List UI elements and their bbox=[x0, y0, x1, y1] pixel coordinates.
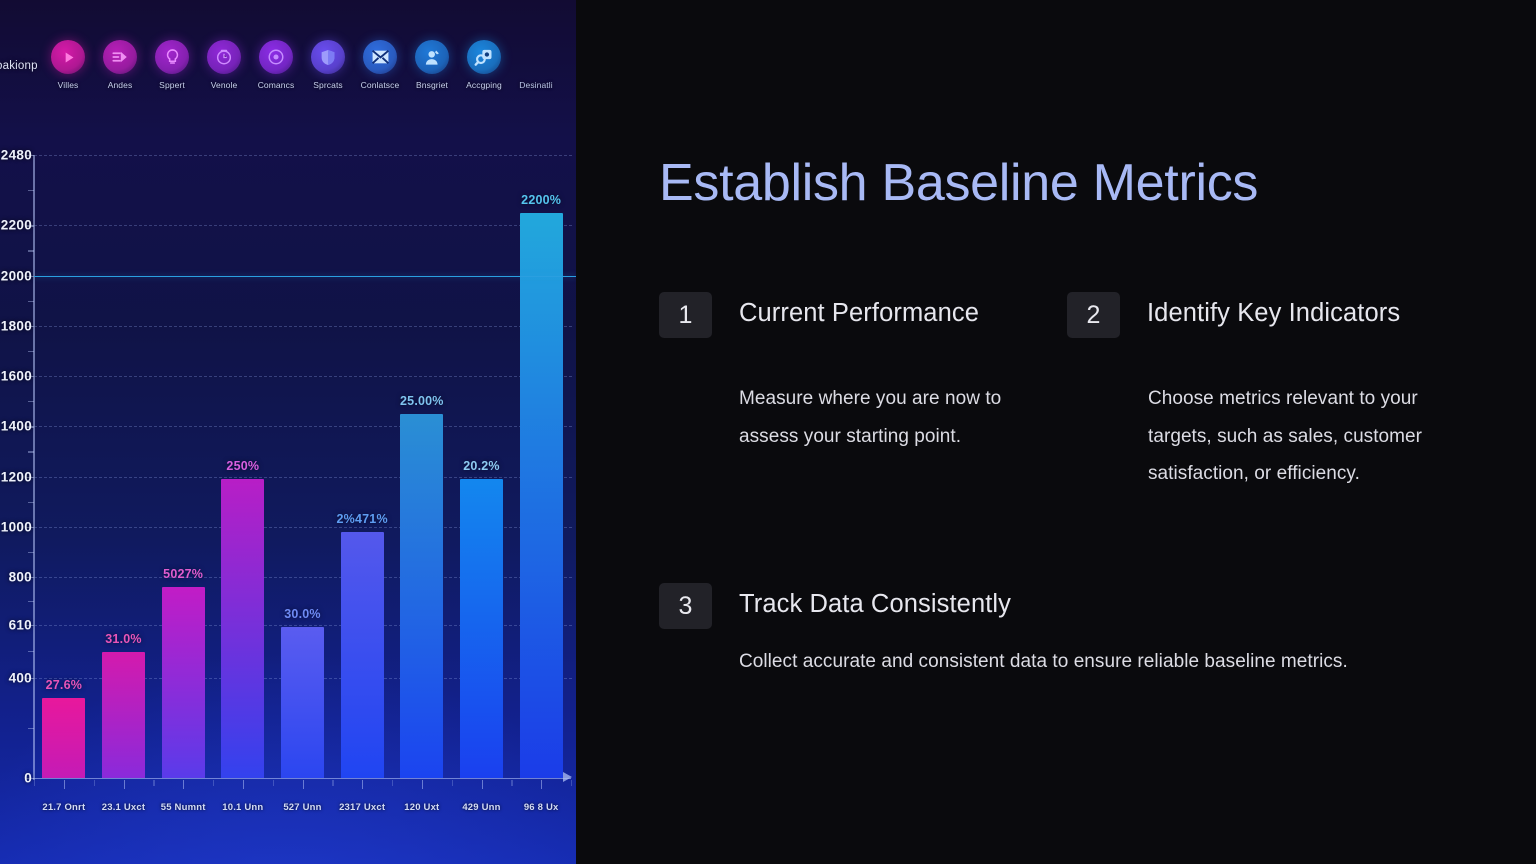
x-axis-tick bbox=[482, 780, 483, 789]
x-axis-boundary-tick bbox=[94, 780, 95, 786]
y-axis-tick-label: 2000 bbox=[0, 268, 32, 283]
x-axis-boundary-tick bbox=[571, 780, 572, 786]
bar-rectangle bbox=[102, 652, 145, 778]
bar-value-label: 20.2% bbox=[463, 459, 499, 473]
bar-value-label: 250% bbox=[226, 459, 259, 473]
x-axis-boundary-tick bbox=[273, 780, 274, 786]
y-axis-tick-label: 610 bbox=[0, 617, 32, 632]
step-2-header: 2 Identify Key Indicators bbox=[1067, 292, 1467, 338]
step-3-header: 3 Track Data Consistently bbox=[659, 583, 1459, 629]
toolbar-item-label: Conlatsce bbox=[361, 80, 400, 90]
play-icon[interactable] bbox=[51, 40, 85, 74]
user-edit-icon[interactable] bbox=[415, 40, 449, 74]
y-axis-tick-label: 1200 bbox=[0, 469, 32, 484]
search-image-icon[interactable] bbox=[467, 40, 501, 74]
shield-icon[interactable] bbox=[311, 40, 345, 74]
icon-toolbar[interactable]: oakionp VillesAndesSppertVenoleComancsSp… bbox=[0, 40, 576, 110]
step-2-number-badge: 2 bbox=[1067, 292, 1120, 338]
toolbar-item-comancs[interactable]: Comancs bbox=[250, 40, 302, 90]
chart-bar: 27.6% bbox=[42, 140, 85, 778]
x-axis-boundary-tick bbox=[153, 780, 154, 786]
x-axis-boundary-tick bbox=[392, 780, 393, 786]
toolbar-item-label: Venole bbox=[211, 80, 238, 90]
toolbar-item-label: Sprcats bbox=[313, 80, 343, 90]
x-axis-tick-label: 96 8 Ux bbox=[524, 802, 559, 813]
toolbar-item-desinatli[interactable]: Desinatli bbox=[510, 40, 562, 90]
chart-bar: 25.00% bbox=[400, 140, 443, 778]
lightbulb-icon[interactable] bbox=[155, 40, 189, 74]
x-axis-boundary-tick bbox=[452, 780, 453, 786]
bar-value-label: 2%471% bbox=[337, 512, 388, 526]
chart-bar: 31.0% bbox=[102, 140, 145, 778]
toolbar-item-bnsgriet[interactable]: Bnsgriet bbox=[406, 40, 458, 90]
chart-bar: 2200% bbox=[520, 140, 563, 778]
fast-forward-icon[interactable] bbox=[103, 40, 137, 74]
toolbar-item-label: Comancs bbox=[258, 80, 295, 90]
step-3-title: Track Data Consistently bbox=[739, 583, 1011, 621]
bar-rectangle bbox=[400, 414, 443, 778]
reference-line bbox=[34, 276, 576, 278]
x-axis-tick bbox=[124, 780, 125, 789]
chart-bars: 27.6%31.0%5027%250%30.0%2%471%25.00%20.2… bbox=[34, 140, 571, 778]
x-axis-tick-label: 429 Unn bbox=[462, 802, 500, 813]
toolbar-item-label: Sppert bbox=[159, 80, 185, 90]
envelope-icon[interactable] bbox=[363, 40, 397, 74]
step-3-description: Collect accurate and consistent data to … bbox=[739, 643, 1429, 681]
x-axis-tick bbox=[422, 780, 423, 789]
x-axis-tick bbox=[183, 780, 184, 789]
toolbar-items[interactable]: VillesAndesSppertVenoleComancsSprcatsCon… bbox=[42, 40, 562, 90]
step-1-number-badge: 1 bbox=[659, 292, 712, 338]
bar-rectangle bbox=[341, 532, 384, 778]
x-axis-tick-label: 21.7 Onrt bbox=[42, 802, 85, 813]
x-axis-tick bbox=[64, 780, 65, 789]
bar-value-label: 5027% bbox=[163, 567, 203, 581]
target-icon[interactable] bbox=[259, 40, 293, 74]
y-axis-tick-label: 1800 bbox=[0, 318, 32, 333]
x-axis-boundary-tick bbox=[332, 780, 333, 786]
toolbar-item-sprcats[interactable]: Sprcats bbox=[302, 40, 354, 90]
bar-rectangle bbox=[42, 698, 85, 778]
bar-value-label: 27.6% bbox=[46, 678, 82, 692]
y-axis-tick-label: 800 bbox=[0, 570, 32, 585]
none[interactable] bbox=[519, 40, 553, 74]
bar-rectangle bbox=[162, 587, 205, 778]
x-axis-labels: 21.7 Onrt23.1 Uxct55 Numnt10.1 Unn527 Un… bbox=[34, 780, 571, 840]
x-axis-tick bbox=[541, 780, 542, 789]
step-item-3: 3 Track Data Consistently Collect accura… bbox=[659, 583, 1459, 681]
page-title: Establish Baseline Metrics bbox=[659, 155, 1499, 212]
step-2-title: Identify Key Indicators bbox=[1147, 292, 1400, 330]
toolbar-item-accgping[interactable]: Accgping bbox=[458, 40, 510, 90]
toolbar-item-label: Andes bbox=[108, 80, 133, 90]
toolbar-item-label: Villes bbox=[58, 80, 79, 90]
toolbar-item-venole[interactable]: Venole bbox=[198, 40, 250, 90]
toolbar-item-andes[interactable]: Andes bbox=[94, 40, 146, 90]
toolbar-item-conlatsce[interactable]: Conlatsce bbox=[354, 40, 406, 90]
y-axis-tick-label: 400 bbox=[0, 670, 32, 685]
toolbar-item-label: Bnsgriet bbox=[416, 80, 448, 90]
bar-rectangle bbox=[281, 627, 324, 778]
step-item-2: 2 Identify Key Indicators Choose metrics… bbox=[1067, 292, 1467, 493]
x-axis-tick bbox=[243, 780, 244, 789]
y-axis-tick-label: 1400 bbox=[0, 419, 32, 434]
x-axis-boundary-tick bbox=[34, 780, 35, 786]
chart-bar: 2%471% bbox=[341, 140, 384, 778]
chart-screenshot-panel: oakionp VillesAndesSppertVenoleComancsSp… bbox=[0, 0, 576, 864]
bar-rectangle bbox=[221, 479, 264, 778]
x-axis-boundary-tick bbox=[213, 780, 214, 786]
bar-rectangle bbox=[520, 213, 563, 778]
y-axis-tick-label: 2200 bbox=[0, 218, 32, 233]
x-axis-tick bbox=[303, 780, 304, 789]
y-axis-tick-label: 0 bbox=[0, 771, 32, 786]
x-axis-tick bbox=[362, 780, 363, 789]
x-axis-tick-label: 527 Unn bbox=[283, 802, 321, 813]
bar-rectangle bbox=[460, 479, 503, 778]
step-item-1: 1 Current Performance Measure where you … bbox=[659, 292, 1039, 455]
y-axis-tick-label: 1000 bbox=[0, 519, 32, 534]
step-1-description: Measure where you are now to assess your… bbox=[739, 380, 1049, 455]
toolbar-item-villes[interactable]: Villes bbox=[42, 40, 94, 90]
step-1-title: Current Performance bbox=[739, 292, 979, 330]
y-axis-tick-label: 2480 bbox=[0, 148, 32, 163]
bar-value-label: 30.0% bbox=[284, 607, 320, 621]
step-3-number-badge: 3 bbox=[659, 583, 712, 629]
chart-bar: 250% bbox=[221, 140, 264, 778]
toolbar-item-sppert[interactable]: Sppert bbox=[146, 40, 198, 90]
x-axis-tick-label: 120 Uxt bbox=[404, 802, 439, 813]
bar-value-label: 2200% bbox=[521, 193, 561, 207]
content-panel: Establish Baseline Metrics 1 Current Per… bbox=[576, 0, 1536, 864]
x-axis-tick-label: 2317 Uxct bbox=[339, 802, 385, 813]
toolbar-item-label: Accgping bbox=[466, 80, 502, 90]
step-2-description: Choose metrics relevant to your targets,… bbox=[1148, 380, 1466, 493]
bar-value-label: 31.0% bbox=[105, 632, 141, 646]
clock-icon[interactable] bbox=[207, 40, 241, 74]
step-1-header: 1 Current Performance bbox=[659, 292, 1039, 338]
chart-bar: 30.0% bbox=[281, 140, 324, 778]
x-axis-tick-label: 10.1 Unn bbox=[222, 802, 263, 813]
toolbar-item-label: Desinatli bbox=[519, 80, 553, 90]
chart-bar: 5027% bbox=[162, 140, 205, 778]
y-axis-tick-label: 1600 bbox=[0, 369, 32, 384]
x-axis-tick-label: 55 Numnt bbox=[161, 802, 206, 813]
bar-chart: 2480220020001800160014001200100080061040… bbox=[0, 140, 576, 840]
bar-value-label: 25.00% bbox=[400, 394, 444, 408]
x-axis-tick-label: 23.1 Uxct bbox=[102, 802, 146, 813]
toolbar-brand-label: oakionp bbox=[0, 60, 42, 72]
chart-bar: 20.2% bbox=[460, 140, 503, 778]
x-axis-boundary-tick bbox=[511, 780, 512, 786]
